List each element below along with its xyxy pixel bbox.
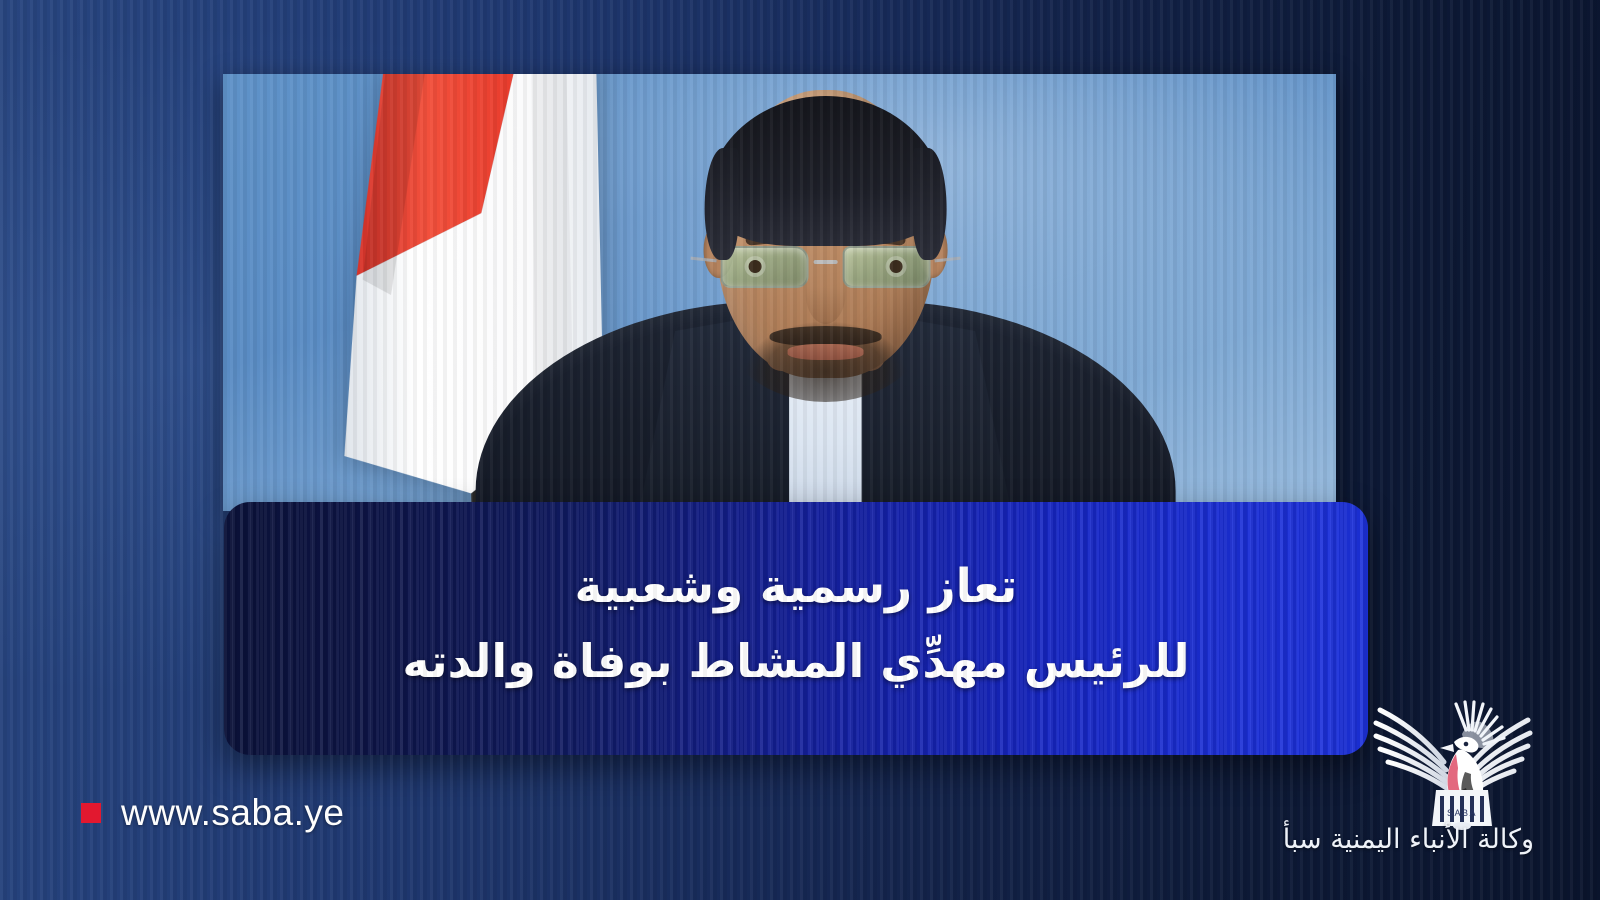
glasses-temple-right bbox=[934, 257, 960, 263]
agency-branding: SABA وكالة الأنباء اليمنية سبأ bbox=[1118, 690, 1538, 855]
headline-line-2: للرئيس مهدِّي المشاط بوفاة والدته bbox=[402, 631, 1189, 693]
glasses-temple-left bbox=[690, 257, 716, 263]
person-figure bbox=[445, 74, 1205, 511]
moustache bbox=[769, 326, 881, 346]
hair bbox=[706, 96, 944, 246]
head bbox=[716, 90, 934, 378]
agency-name: وكالة الأنباء اليمنية سبأ bbox=[1283, 824, 1534, 855]
website-url[interactable]: www.saba.ye bbox=[121, 792, 345, 834]
news-card-canvas: تعاز رسمية وشعبية للرئيس مهدِّي المشاط ب… bbox=[0, 0, 1600, 900]
mouth bbox=[787, 344, 863, 360]
portrait-photo bbox=[223, 74, 1336, 511]
eye-right bbox=[889, 260, 902, 273]
eye-left bbox=[748, 260, 761, 273]
nose bbox=[805, 262, 845, 324]
lens-left bbox=[720, 246, 808, 288]
saba-eagle-logo-icon: SABA bbox=[1370, 690, 1538, 830]
svg-text:SABA: SABA bbox=[1447, 808, 1477, 818]
website-footer[interactable]: www.saba.ye bbox=[81, 792, 345, 834]
square-bullet-icon bbox=[81, 803, 101, 823]
headline-line-1: تعاز رسمية وشعبية bbox=[575, 556, 1018, 619]
